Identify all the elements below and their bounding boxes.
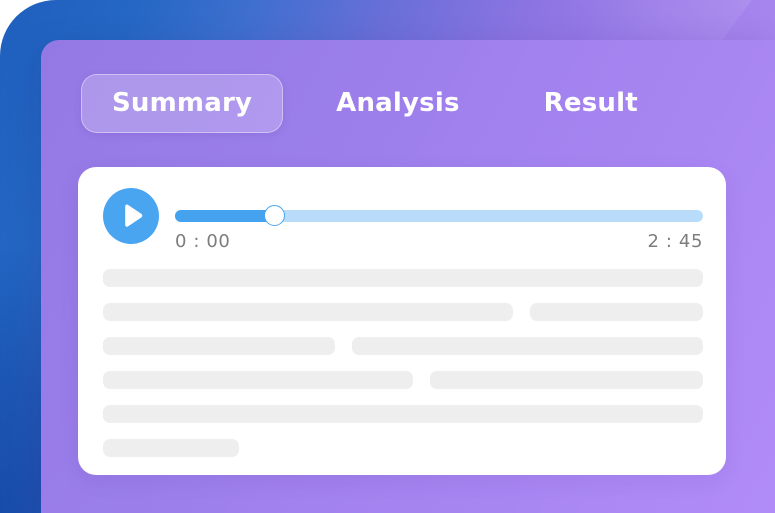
skeleton-row xyxy=(103,269,703,287)
skeleton-row xyxy=(103,439,703,457)
tab-analysis[interactable]: Analysis xyxy=(305,74,491,133)
app-panel: Summary Analysis Result xyxy=(41,40,775,513)
progress-slider[interactable] xyxy=(175,205,703,227)
total-time-label: 2 : 45 xyxy=(648,231,703,252)
skeleton-row xyxy=(103,371,703,389)
skeleton-bar xyxy=(103,303,513,321)
skeleton-bar xyxy=(103,371,413,389)
progress-track-filled xyxy=(175,210,278,222)
tab-summary[interactable]: Summary xyxy=(81,74,283,133)
audio-player: 0 : 00 2 : 45 xyxy=(103,183,703,261)
skeleton-bar xyxy=(103,439,239,457)
tab-bar: Summary Analysis Result xyxy=(81,74,669,133)
play-button[interactable] xyxy=(103,188,159,244)
content-card: 0 : 00 2 : 45 xyxy=(78,167,726,475)
transcript-skeleton xyxy=(103,269,703,457)
skeleton-bar xyxy=(430,371,703,389)
skeleton-row xyxy=(103,405,703,423)
tab-spacer-2 xyxy=(491,103,513,104)
skeleton-bar xyxy=(352,337,703,355)
play-icon xyxy=(118,204,144,228)
progress-thumb[interactable] xyxy=(264,205,285,226)
tab-result[interactable]: Result xyxy=(513,74,669,133)
skeleton-bar xyxy=(530,303,703,321)
skeleton-row xyxy=(103,337,703,355)
current-time-label: 0 : 00 xyxy=(175,231,230,252)
screenshot-root: Summary Analysis Result xyxy=(0,0,775,513)
tab-spacer-1 xyxy=(283,103,305,104)
skeleton-bar xyxy=(103,269,703,287)
skeleton-bar xyxy=(103,337,335,355)
time-labels: 0 : 00 2 : 45 xyxy=(175,231,703,252)
skeleton-row xyxy=(103,303,703,321)
skeleton-bar xyxy=(103,405,703,423)
